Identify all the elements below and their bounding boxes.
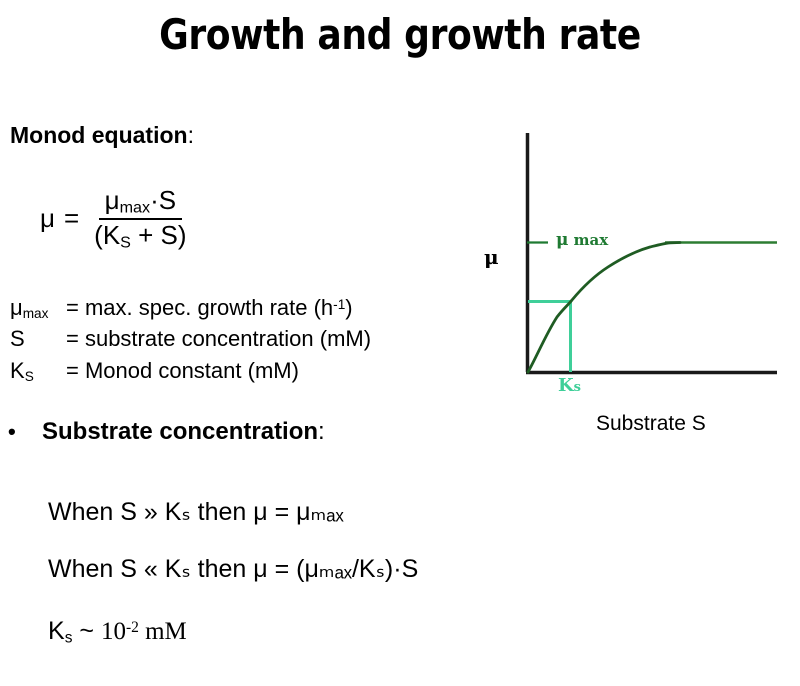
- definition-text: = max. spec. growth rate (h-1): [66, 292, 353, 323]
- definition-text-sup: -1: [333, 297, 345, 312]
- monod-growth-curve: [528, 243, 680, 373]
- monod-equation-heading: Monod equation:: [10, 122, 194, 149]
- mu-max-label: μ max: [556, 230, 608, 250]
- definition-text-main: = max. spec. growth rate (h: [66, 295, 333, 320]
- condition-line-2: When S « Kₛ then μ = (μₘₐₓ/Kₛ)·S: [48, 554, 418, 584]
- equation-fraction: μmax·S (KS + S): [88, 186, 192, 251]
- denominator-subscript: S: [120, 233, 131, 251]
- definition-symbol-sub: max: [23, 306, 49, 321]
- monod-growth-chart: [470, 120, 800, 450]
- chart-y-axis-label: μ: [484, 245, 499, 269]
- chart-svg: [470, 120, 800, 450]
- equation-lhs-mu: μ: [40, 203, 55, 234]
- chart-x-axis-label: Substrate S: [596, 412, 706, 436]
- monod-equation-heading-text: Monod equation: [10, 122, 188, 148]
- definition-text: = substrate concentration (mM): [66, 323, 371, 354]
- numerator-rest: ·S: [150, 185, 176, 215]
- equation-denominator: (KS + S): [88, 220, 192, 252]
- ks-label: Ks: [558, 375, 581, 396]
- numerator-mu: μ: [105, 185, 120, 215]
- definition-symbol: S: [10, 323, 66, 354]
- numerator-subscript: max: [120, 199, 150, 217]
- definition-symbol-main: μ: [10, 295, 23, 320]
- definition-row: S = substrate concentration (mM): [10, 323, 371, 354]
- definition-symbol-sub: S: [25, 369, 34, 384]
- monod-equation-heading-colon: :: [188, 122, 194, 148]
- bullet-colon: :: [318, 418, 325, 446]
- definition-text-main: = substrate concentration (mM): [66, 326, 371, 351]
- definition-symbol-main: S: [10, 326, 25, 351]
- condition-line-3: Ks ~ 10-2 mM: [48, 617, 187, 647]
- equation-numerator: μmax·S: [99, 186, 182, 220]
- definition-text-tail: ): [345, 295, 352, 320]
- definition-row: KS = Monod constant (mM): [10, 355, 371, 386]
- definition-text: = Monod constant (mM): [66, 355, 299, 386]
- condition-line-1: When S » Kₛ then μ = μₘₐₓ: [48, 497, 344, 527]
- definition-row: μmax = max. spec. growth rate (h-1): [10, 292, 371, 323]
- definition-symbol: KS: [10, 355, 66, 386]
- definition-symbol-main: K: [10, 358, 25, 383]
- substrate-concentration-bullet: • Substrate concentration:: [8, 418, 325, 446]
- page-title: Growth and growth rate: [56, 10, 744, 59]
- denominator-rest: + S): [131, 220, 187, 250]
- definition-text-main: = Monod constant (mM): [66, 358, 299, 383]
- bullet-marker-icon: •: [8, 419, 42, 445]
- denominator-open: (K: [94, 220, 120, 250]
- monod-equation-formula: μ = μmax·S (KS + S): [40, 186, 193, 251]
- definition-list: μmax = max. spec. growth rate (h-1) S = …: [10, 292, 371, 386]
- definition-symbol: μmax: [10, 292, 66, 323]
- equation-equals-sign: =: [64, 203, 79, 234]
- bullet-label: Substrate concentration: [42, 418, 318, 446]
